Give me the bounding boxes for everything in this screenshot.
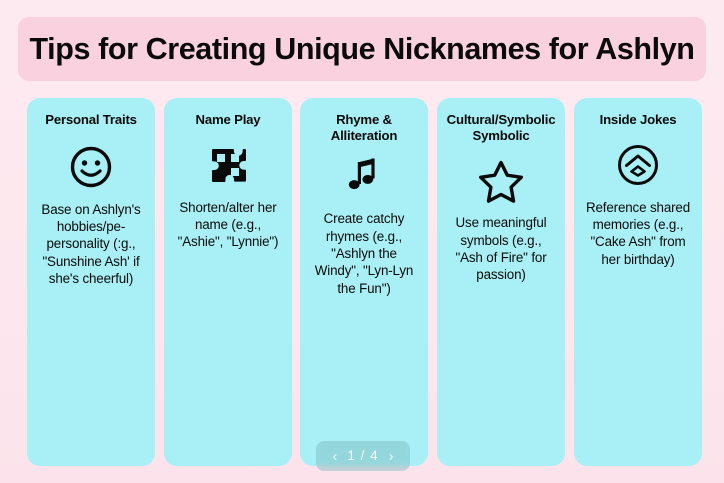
chevron-left-icon[interactable]: ‹: [332, 449, 337, 464]
puzzle-piece-icon: [205, 142, 251, 188]
card-title: Personal Traits: [45, 112, 137, 128]
tips-card-row: Personal Traits Base on Ashlyn's hobbies…: [0, 98, 724, 468]
tip-card-personal-traits[interactable]: Personal Traits Base on Ashlyn's hobbies…: [27, 98, 155, 466]
card-title: Cultural/Symbolic Symbolic: [444, 112, 558, 143]
tip-card-cultural-symbolic[interactable]: Cultural/Symbolic Symbolic Use meaningfu…: [437, 98, 565, 466]
chevron-right-icon[interactable]: ›: [389, 449, 394, 464]
card-description: Shorten/alter her name (e.g., "Ashie", "…: [171, 199, 285, 251]
star-icon: [478, 157, 524, 203]
card-description: Reference shared memories (e.g., "Cake A…: [581, 199, 695, 269]
page-counter: 1 / 4: [347, 449, 378, 463]
tip-card-name-play[interactable]: Name Play Shorten/alter her name (e.g., …: [164, 98, 292, 466]
tip-card-rhyme-alliteration[interactable]: Rhyme & Alliteration Create catchy rhyme…: [300, 98, 428, 466]
card-title: Rhyme & Alliteration: [307, 112, 421, 143]
smiley-face-icon: [68, 144, 114, 190]
layers-circle-icon: [615, 142, 661, 188]
card-title: Name Play: [196, 112, 261, 128]
pagination-control[interactable]: ‹ 1 / 4 ›: [316, 441, 410, 471]
page-title-bar: Tips for Creating Unique Nicknames for A…: [18, 17, 706, 81]
tip-card-inside-jokes[interactable]: Inside Jokes Reference shared memories (…: [574, 98, 702, 466]
card-description: Use meaningful symbols (e.g., "Ash of Fi…: [444, 214, 558, 284]
page-title: Tips for Creating Unique Nicknames for A…: [30, 34, 695, 65]
card-description: Base on Ashlyn's hobbies/pe-personality …: [34, 201, 148, 288]
music-note-icon: [341, 153, 387, 199]
card-title: Inside Jokes: [600, 112, 677, 128]
page-root: Tips for Creating Unique Nicknames for A…: [0, 0, 724, 483]
card-description: Create catchy rhymes (e.g., "Ashlyn the …: [307, 210, 421, 297]
